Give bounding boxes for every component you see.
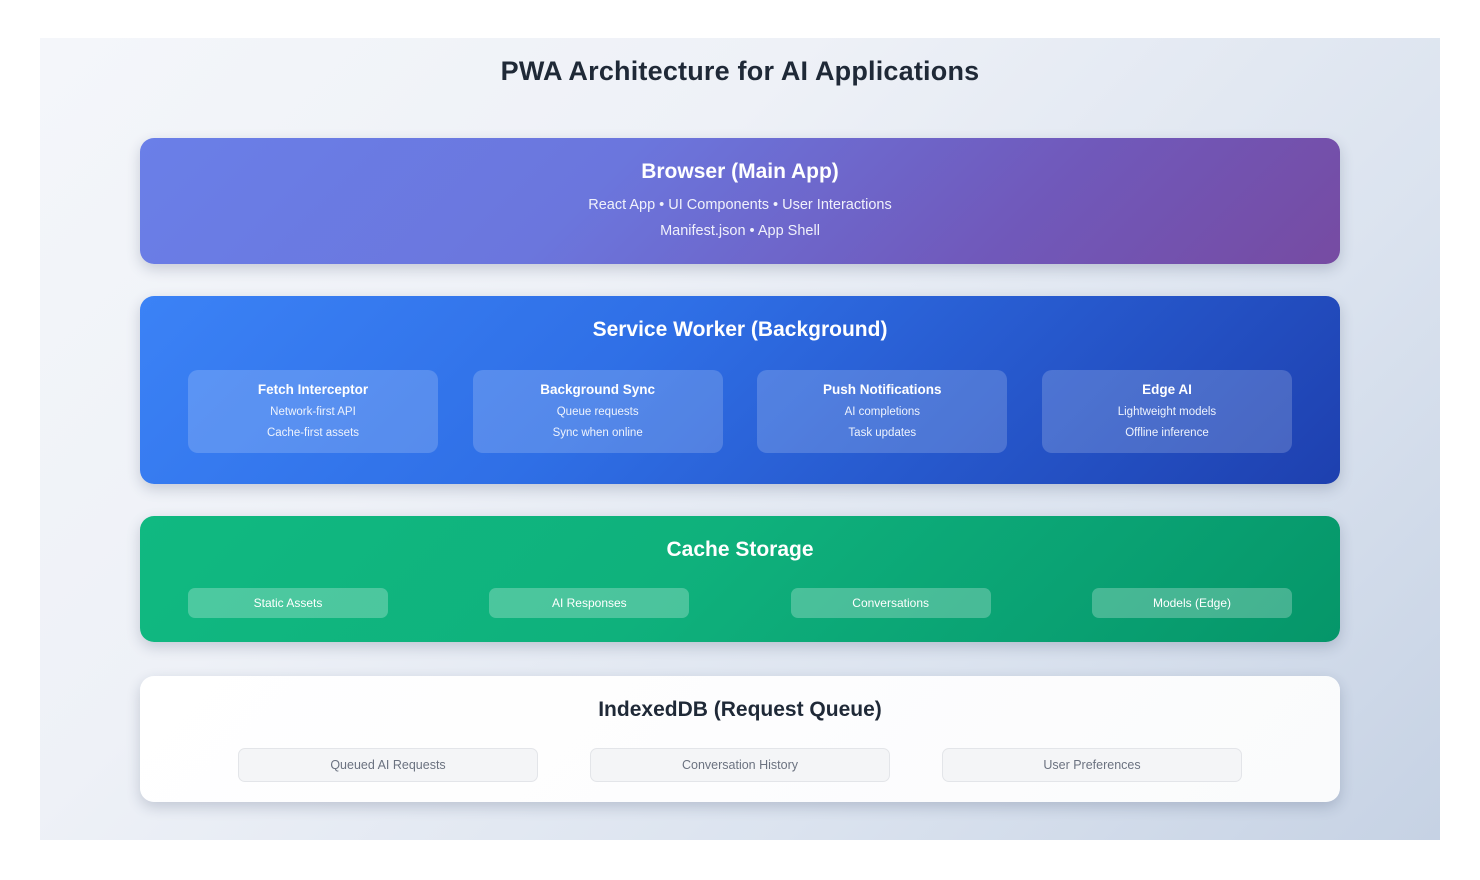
cache-item-ai-responses[interactable]: AI Responses — [489, 588, 689, 618]
card-line-2: Cache-first assets — [194, 427, 432, 439]
layer-browser-line-1: React App • UI Components • User Interac… — [140, 197, 1340, 213]
cache-item-conversations[interactable]: Conversations — [791, 588, 991, 618]
indexeddb-item-list: Queued AI Requests Conversation History … — [238, 748, 1242, 782]
card-line-2: Offline inference — [1048, 427, 1286, 439]
cache-storage-item-list: Static Assets AI Responses Conversations… — [188, 588, 1292, 618]
indexeddb-item-user-preferences[interactable]: User Preferences — [942, 748, 1242, 782]
cache-item-static-assets[interactable]: Static Assets — [188, 588, 388, 618]
layer-cache-storage: Cache Storage Static Assets AI Responses… — [140, 516, 1340, 642]
layer-indexeddb: IndexedDB (Request Queue) Queued AI Requ… — [140, 676, 1340, 802]
card-title: Edge AI — [1048, 382, 1286, 397]
card-line-2: Task updates — [763, 427, 1001, 439]
layer-service-worker: Service Worker (Background) Fetch Interc… — [140, 296, 1340, 484]
card-title: Fetch Interceptor — [194, 382, 432, 397]
page-title: PWA Architecture for AI Applications — [40, 38, 1440, 87]
service-worker-card-push-notifications[interactable]: Push Notifications AI completions Task u… — [757, 370, 1007, 453]
indexeddb-item-conversation-history[interactable]: Conversation History — [590, 748, 890, 782]
card-line-1: Network-first API — [194, 406, 432, 418]
layer-indexeddb-title: IndexedDB (Request Queue) — [140, 698, 1340, 722]
card-line-1: Queue requests — [479, 406, 717, 418]
layer-browser-title: Browser (Main App) — [140, 160, 1340, 184]
service-worker-card-list: Fetch Interceptor Network-first API Cach… — [188, 370, 1292, 453]
card-line-1: AI completions — [763, 406, 1001, 418]
service-worker-card-background-sync[interactable]: Background Sync Queue requests Sync when… — [473, 370, 723, 453]
layer-browser-line-2: Manifest.json • App Shell — [140, 223, 1340, 239]
indexeddb-item-queued-ai-requests[interactable]: Queued AI Requests — [238, 748, 538, 782]
architecture-diagram: PWA Architecture for AI Applications Bro… — [40, 38, 1440, 840]
card-line-1: Lightweight models — [1048, 406, 1286, 418]
card-line-2: Sync when online — [479, 427, 717, 439]
layer-browser: Browser (Main App) React App • UI Compon… — [140, 138, 1340, 264]
card-title: Background Sync — [479, 382, 717, 397]
card-title: Push Notifications — [763, 382, 1001, 397]
service-worker-card-fetch-interceptor[interactable]: Fetch Interceptor Network-first API Cach… — [188, 370, 438, 453]
layer-cache-storage-title: Cache Storage — [140, 538, 1340, 562]
service-worker-card-edge-ai[interactable]: Edge AI Lightweight models Offline infer… — [1042, 370, 1292, 453]
cache-item-models-edge[interactable]: Models (Edge) — [1092, 588, 1292, 618]
layer-service-worker-title: Service Worker (Background) — [140, 318, 1340, 342]
